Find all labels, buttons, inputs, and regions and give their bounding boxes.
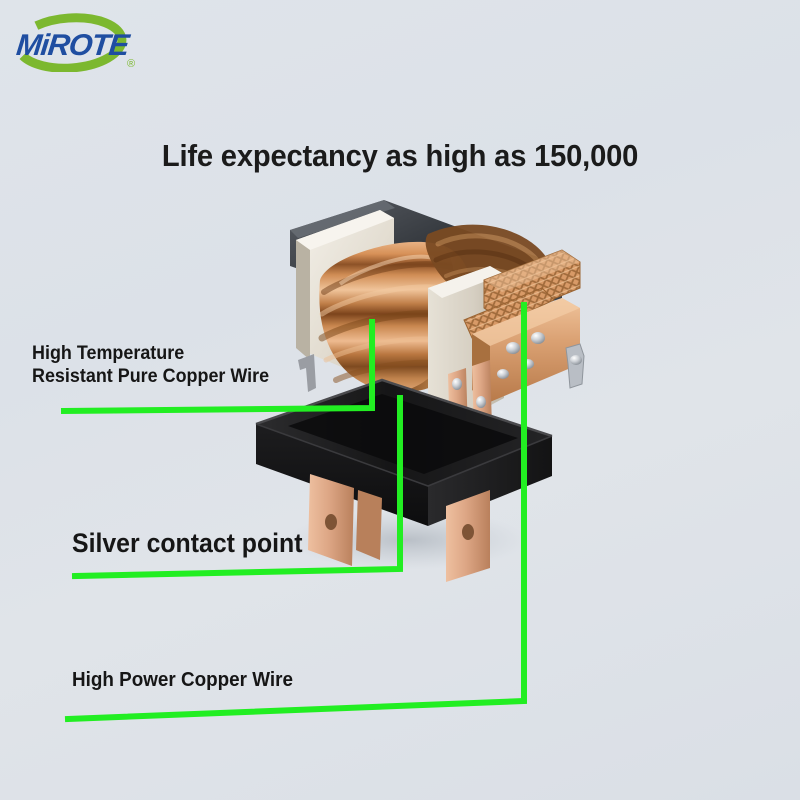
silver-rivet-contact (506, 342, 520, 354)
left-metal-bracket (298, 354, 316, 392)
callout-label-silver-contact: Silver contact point (72, 528, 303, 560)
silver-rivet-contact (531, 332, 545, 344)
terminal-blade (446, 490, 490, 582)
terminal-blade (356, 490, 382, 560)
silver-contact-rivet (476, 396, 486, 408)
brand-logo: MiROTE ® (8, 10, 158, 72)
product-infographic-canvas: MiROTE ® Life expectancy as high as 150,… (0, 0, 800, 800)
callout-label-high-temperature: High Temperature Resistant Pure Copper W… (32, 342, 269, 388)
silver-rivet-contact (497, 369, 509, 379)
brand-logo-icon: MiROTE ® (8, 10, 158, 72)
logo-wordmark: MiROTE (15, 28, 133, 62)
terminal-blade (308, 474, 354, 566)
silver-rivet-contact (522, 359, 534, 369)
silver-contact-rivet (452, 378, 462, 390)
black-plastic-base (256, 380, 552, 526)
page-title: Life expectancy as high as 150,000 (24, 138, 776, 174)
callout-label-high-power: High Power Copper Wire (72, 668, 293, 692)
silver-armature-clip (566, 344, 584, 388)
logo-trademark-symbol: ® (127, 58, 135, 70)
